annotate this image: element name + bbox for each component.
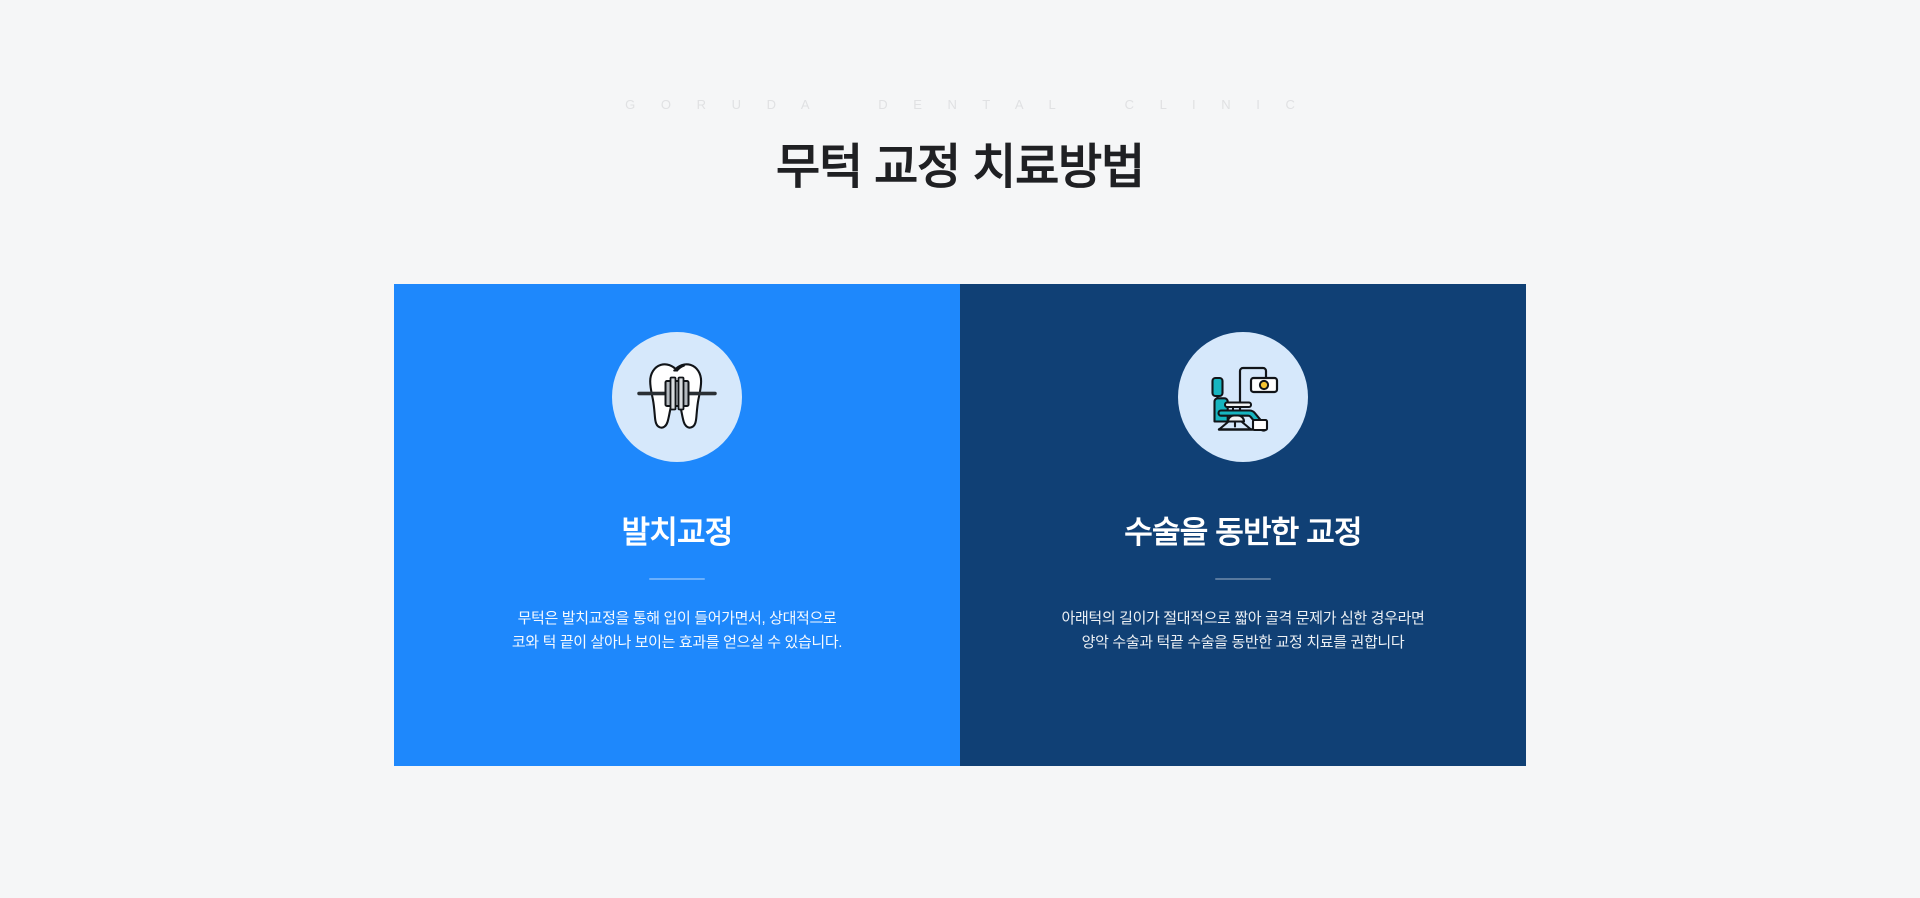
- page-title: 무턱 교정 치료방법: [0, 140, 1920, 197]
- card-divider-surgical: [1215, 578, 1271, 580]
- tooth-braces-icon: [629, 349, 725, 445]
- card-desc-line: 양악 수술과 턱끝 수술을 동반한 교정 치료를 권합니다: [1062, 631, 1425, 655]
- page-root: G O R U D A D E N T A L C L I N I C 무턱 교…: [0, 0, 1920, 898]
- card-title-extraction: 발치교정: [622, 514, 733, 551]
- card-surgical-orthodontics[interactable]: 수술을 동반한 교정 아래턱의 길이가 절대적으로 짧아 골격 문제가 심한 경…: [960, 284, 1526, 766]
- card-extraction-orthodontics[interactable]: 발치교정 무턱은 발치교정을 통해 입이 들어가면서, 상대적으로 코와 턱 끝…: [394, 284, 960, 766]
- page-header: G O R U D A D E N T A L C L I N I C 무턱 교…: [0, 0, 1920, 197]
- card-description-surgical: 아래턱의 길이가 절대적으로 짧아 골격 문제가 심한 경우라면 양악 수술과 …: [1062, 607, 1425, 655]
- card-title-surgical: 수술을 동반한 교정: [1124, 514, 1361, 551]
- icon-circle-surgical: [1178, 332, 1308, 462]
- brand-eyebrow: G O R U D A D E N T A L C L I N I C: [0, 98, 1920, 111]
- card-description-extraction: 무턱은 발치교정을 통해 입이 들어가면서, 상대적으로 코와 턱 끝이 살아나…: [512, 607, 842, 655]
- treatment-cards: 발치교정 무턱은 발치교정을 통해 입이 들어가면서, 상대적으로 코와 턱 끝…: [394, 284, 1526, 766]
- card-desc-line: 아래턱의 길이가 절대적으로 짧아 골격 문제가 심한 경우라면: [1062, 607, 1425, 631]
- card-divider-extraction: [649, 578, 705, 580]
- card-desc-line: 코와 턱 끝이 살아나 보이는 효과를 얻으실 수 있습니다.: [512, 631, 842, 655]
- dental-chair-icon: [1195, 349, 1291, 445]
- icon-circle-extraction: [612, 332, 742, 462]
- card-desc-line: 무턱은 발치교정을 통해 입이 들어가면서, 상대적으로: [512, 607, 842, 631]
